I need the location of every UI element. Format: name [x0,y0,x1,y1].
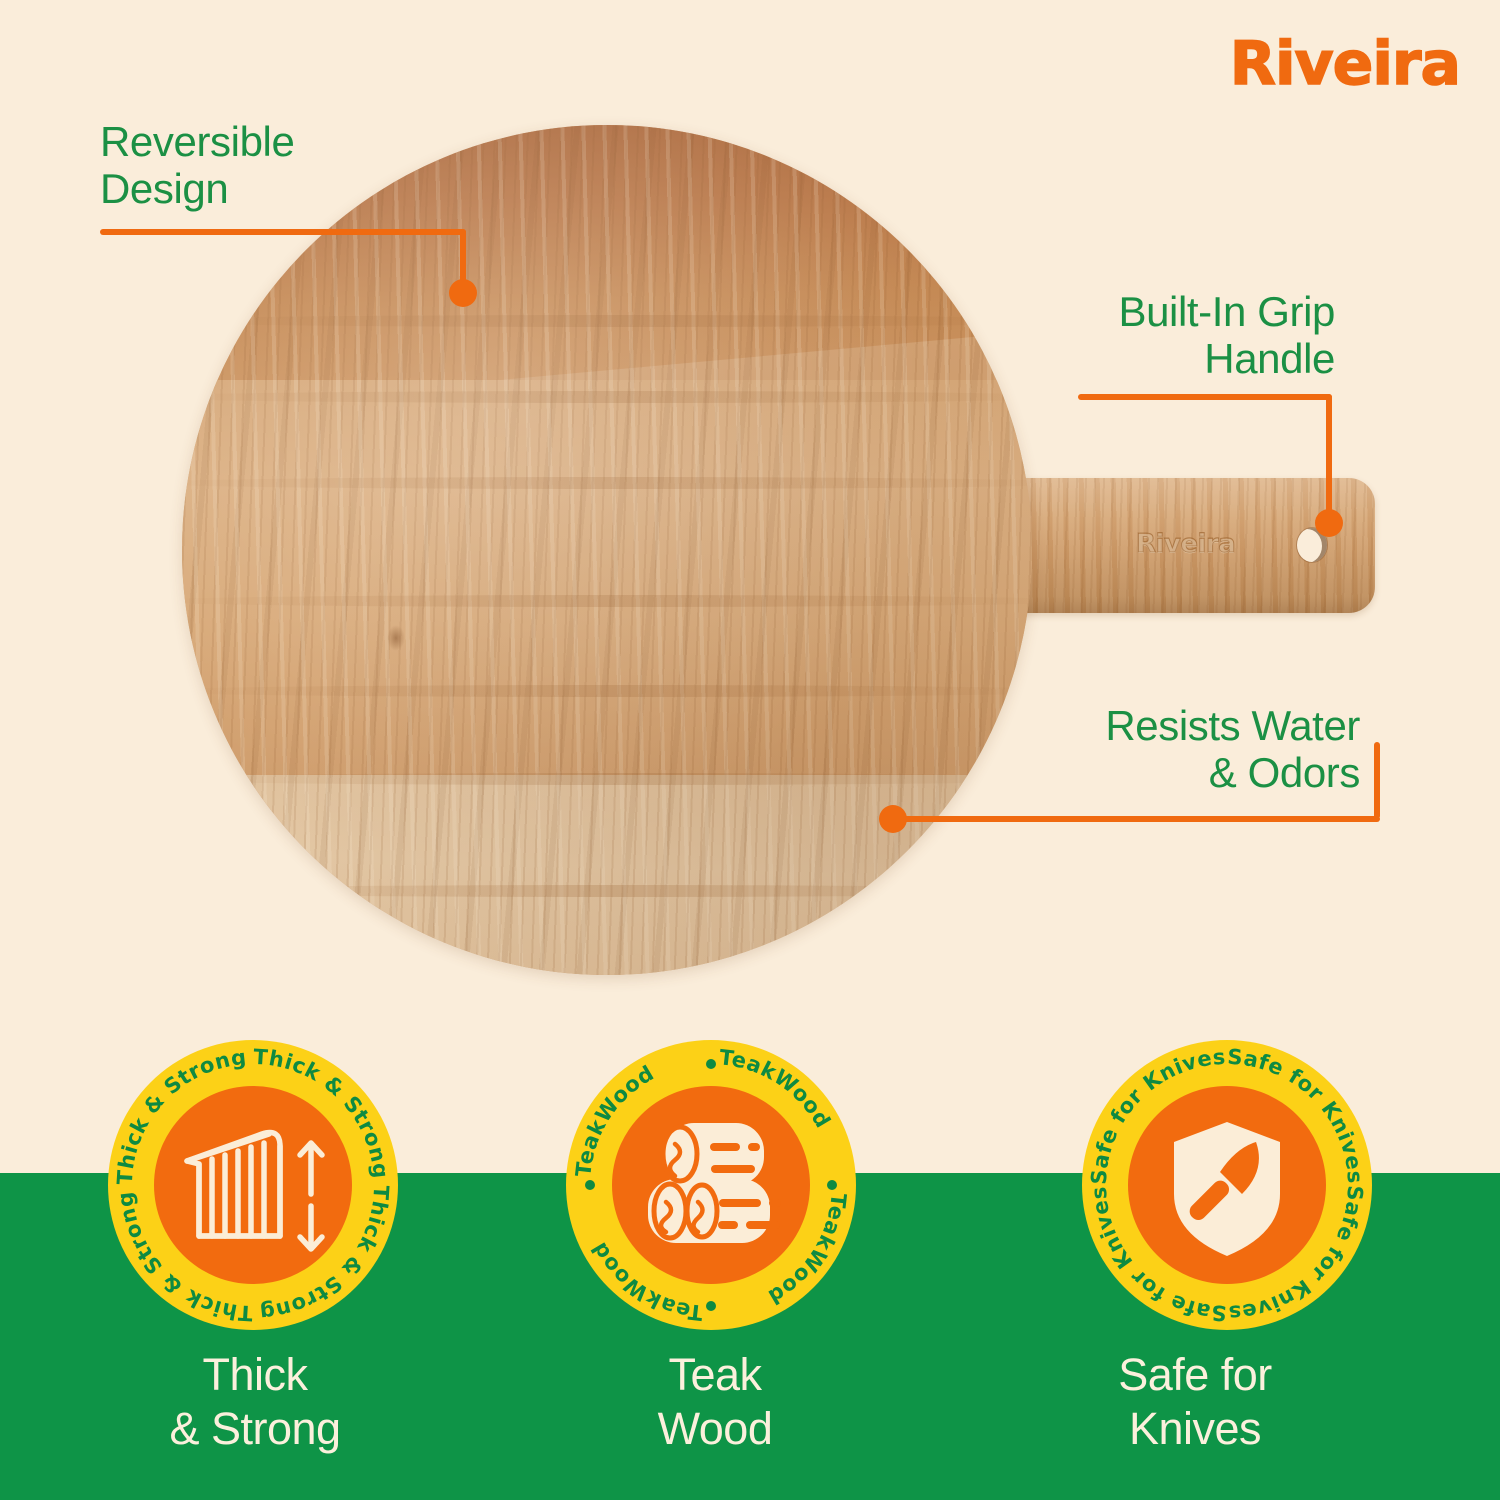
callout-dot-handle [1315,509,1343,537]
badge-caption-safe-for-knives: Safe for Knives [1000,1348,1390,1456]
board-sheen [182,125,1032,975]
callout-leader-line-resists [893,816,1380,822]
engraved-brand-logo: Riveira [1136,529,1235,559]
badge-thick-strong: Thick & Strong Thick & Strong Thick & St… [108,1040,398,1330]
callout-leader-line-reversible [100,229,466,235]
feature-badges: Thick & Strong Thick & Strong Thick & St… [0,1040,1500,1340]
badge-safe-for-knives: Safe for Knives Safe for Knives Safe for… [1082,1040,1372,1330]
callout-label-built-in-grip-handle: Built-In Grip Handle [1118,288,1335,382]
badge-teak-wood: TeakWood TeakWood TeakWood TeakWood [566,1040,856,1330]
product-infographic: Riveira Riveira Reversible Design [0,0,1500,1500]
shield-knife-icon [1128,1086,1326,1284]
callout-dot-reversible [449,279,477,307]
callout-dot-resists [879,805,907,833]
wood-logs-icon [612,1086,810,1284]
board-round-surface [182,125,1032,975]
badge-caption-thick-strong: Thick & Strong [60,1348,450,1456]
callout-label-reversible-design: Reversible Design [100,118,294,212]
badge-caption-teak-wood: Teak Wood [520,1348,910,1456]
callout-label-resists-water-odors: Resists Water & Odors [1105,702,1360,796]
callout-leader-line-handle-drop [1326,394,1332,526]
callout-leader-line-handle [1078,394,1332,400]
callout-leader-line-resists-rise [1374,742,1380,819]
thick-board-arrows-icon [154,1086,352,1284]
